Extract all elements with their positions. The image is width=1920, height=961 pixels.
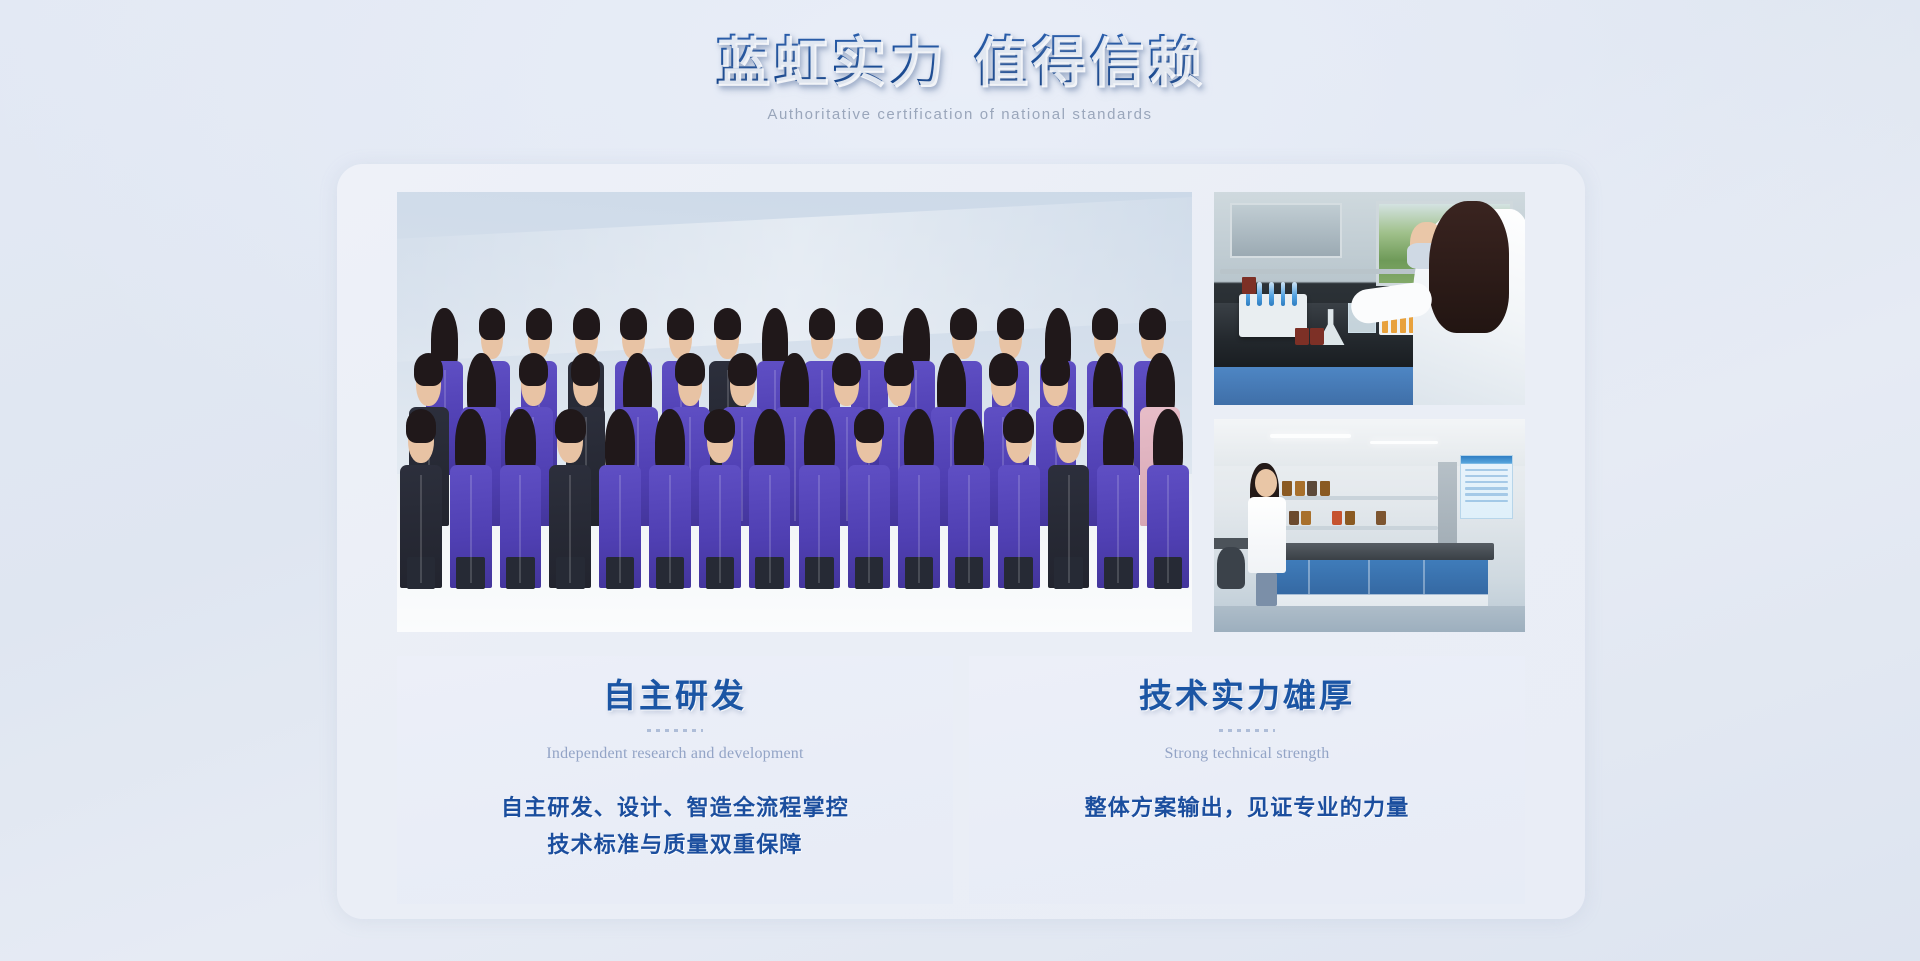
page-title: 蓝虹实力值得信赖 bbox=[715, 30, 1205, 96]
team-member bbox=[998, 417, 1040, 597]
team-member bbox=[549, 417, 591, 597]
poster-text-line bbox=[1465, 487, 1508, 489]
team-member-head bbox=[625, 360, 650, 405]
team-member-hair bbox=[832, 353, 861, 386]
team-member-hair bbox=[728, 353, 757, 386]
team-member-head bbox=[521, 360, 546, 405]
card-body-text: 自主研发、设计、智造全流程掌控 技术标准与质量双重保障 bbox=[397, 789, 953, 865]
lab2-island-benchtop bbox=[1254, 543, 1493, 560]
pipette-icon bbox=[1281, 282, 1286, 305]
team-member-head bbox=[1155, 417, 1181, 464]
team-member-head bbox=[956, 417, 982, 464]
lab1-reagent-bottle bbox=[1310, 328, 1324, 345]
team-member-hair bbox=[406, 409, 437, 443]
feature-card-independent-rd[interactable]: 自主研发 Independent research and developmen… bbox=[397, 656, 953, 904]
team-member-uniform bbox=[450, 465, 492, 588]
team-member-head bbox=[856, 417, 882, 464]
team-member-hair bbox=[704, 409, 735, 443]
team-member-hair bbox=[526, 308, 553, 340]
reagent-bottle bbox=[1320, 481, 1330, 496]
content-panel: 自主研发 Independent research and developmen… bbox=[337, 164, 1585, 919]
lab2-technician-head bbox=[1255, 469, 1277, 497]
team-member bbox=[898, 417, 940, 597]
team-member-head bbox=[408, 417, 434, 464]
team-member-head bbox=[433, 315, 456, 359]
team-member-legs bbox=[456, 557, 484, 589]
team-member-head bbox=[1105, 417, 1131, 464]
team-member-hair bbox=[1139, 308, 1166, 340]
card-title: 自主研发 bbox=[397, 678, 953, 718]
lab1-reagent-bottle bbox=[1242, 277, 1256, 294]
feature-card-technical-strength[interactable]: 技术实力雄厚 Strong technical strength 整体方案输出，… bbox=[969, 656, 1525, 904]
team-member-head bbox=[906, 417, 932, 464]
reagent-bottle bbox=[1332, 511, 1342, 526]
team-member-hair bbox=[479, 308, 506, 340]
team-member bbox=[450, 417, 492, 597]
team-member-head bbox=[469, 360, 494, 405]
page-title-part1: 蓝虹实力 bbox=[715, 32, 947, 92]
team-member-uniform bbox=[799, 465, 841, 588]
lab2-technician-legs bbox=[1256, 573, 1277, 607]
team-member-uniform bbox=[948, 465, 990, 588]
panel-inner: 自主研发 Independent research and developmen… bbox=[397, 192, 1525, 881]
card-english-subtitle: Strong technical strength bbox=[969, 745, 1525, 763]
team-member-hair bbox=[675, 353, 704, 386]
team-member bbox=[649, 417, 691, 597]
team-member-head bbox=[1148, 360, 1173, 405]
team-member-uniform bbox=[848, 465, 890, 588]
team-member-head bbox=[678, 360, 703, 405]
reagent-bottle bbox=[1301, 511, 1311, 526]
lab-photo-column bbox=[1214, 192, 1525, 632]
team-member-hair bbox=[809, 308, 836, 340]
pipette-icon bbox=[1269, 282, 1274, 305]
poster-text-line bbox=[1465, 475, 1508, 477]
team-member-legs bbox=[506, 557, 534, 589]
team-member-legs bbox=[805, 557, 833, 589]
team-member-uniform bbox=[400, 465, 442, 588]
lab1-technician-hair bbox=[1429, 201, 1510, 333]
lab2-technician-figure bbox=[1248, 466, 1285, 607]
team-member-head bbox=[939, 360, 964, 405]
poster-text-line bbox=[1465, 469, 1508, 471]
team-member-head bbox=[730, 360, 755, 405]
reagent-bottle bbox=[1307, 481, 1317, 496]
lab2-lab-stool bbox=[1217, 547, 1245, 590]
team-member-head bbox=[657, 417, 683, 464]
team-member-legs bbox=[606, 557, 634, 589]
team-member-head bbox=[1056, 417, 1082, 464]
team-member-hair bbox=[519, 353, 548, 386]
team-member-head bbox=[757, 417, 783, 464]
dotted-divider-icon bbox=[647, 729, 703, 732]
team-member bbox=[1097, 417, 1139, 597]
cabinet-seam bbox=[1368, 560, 1370, 594]
team-member-legs bbox=[755, 557, 783, 589]
cabinet-seam bbox=[1308, 560, 1310, 594]
reagent-bottle bbox=[1295, 481, 1305, 496]
lab2-safety-poster bbox=[1460, 455, 1513, 519]
team-member-head bbox=[764, 315, 787, 359]
team-member-hair bbox=[555, 409, 586, 443]
team-member-head bbox=[557, 417, 583, 464]
team-member-head bbox=[508, 417, 534, 464]
team-member-hair bbox=[950, 308, 977, 340]
team-member-head bbox=[834, 360, 859, 405]
team-member-legs bbox=[656, 557, 684, 589]
team-member-head bbox=[952, 315, 975, 359]
team-member-uniform bbox=[998, 465, 1040, 588]
team-member bbox=[948, 417, 990, 597]
team-member-uniform bbox=[500, 465, 542, 588]
card-title: 技术实力雄厚 bbox=[969, 678, 1525, 718]
poster-text-line bbox=[1465, 500, 1508, 502]
team-member-head bbox=[1006, 417, 1032, 464]
team-member-hair bbox=[714, 308, 741, 340]
page-header: 蓝虹实力值得信赖 Authoritative certification of … bbox=[0, 0, 1920, 123]
team-member-head bbox=[607, 417, 633, 464]
team-member bbox=[799, 417, 841, 597]
team-member-uniform bbox=[699, 465, 741, 588]
team-member-head bbox=[887, 360, 912, 405]
team-group-photo bbox=[397, 192, 1192, 632]
reagent-bottle bbox=[1376, 511, 1386, 526]
team-member-legs bbox=[955, 557, 983, 589]
team-member-legs bbox=[1004, 557, 1032, 589]
reagent-bottle bbox=[1289, 511, 1299, 526]
team-member-legs bbox=[1104, 557, 1132, 589]
team-member bbox=[500, 417, 542, 597]
ceiling-light-icon bbox=[1370, 441, 1438, 445]
team-member-head bbox=[905, 315, 928, 359]
dotted-divider-icon bbox=[1219, 729, 1275, 732]
reagent-bottle bbox=[1345, 511, 1355, 526]
team-member-head bbox=[716, 315, 739, 359]
team-members-group bbox=[397, 315, 1192, 597]
team-member-hair bbox=[667, 308, 694, 340]
lab2-floor bbox=[1214, 606, 1525, 632]
team-member-legs bbox=[855, 557, 883, 589]
team-member-uniform bbox=[549, 465, 591, 588]
team-member-hair bbox=[854, 409, 885, 443]
team-member-uniform bbox=[1147, 465, 1189, 588]
team-member-hair bbox=[997, 308, 1024, 340]
team-member bbox=[749, 417, 791, 597]
pipette-icon bbox=[1257, 282, 1262, 305]
team-member-head bbox=[811, 315, 834, 359]
team-member-uniform bbox=[1048, 465, 1090, 588]
team-member-uniform bbox=[1097, 465, 1139, 588]
team-member-uniform bbox=[599, 465, 641, 588]
team-member-head bbox=[806, 417, 832, 464]
team-member-uniform bbox=[749, 465, 791, 588]
team-member-hair bbox=[1003, 409, 1034, 443]
lab-photo-technician bbox=[1214, 192, 1525, 405]
team-member-head bbox=[707, 417, 733, 464]
team-member-hair bbox=[989, 353, 1018, 386]
team-member-legs bbox=[1154, 557, 1182, 589]
team-member-hair bbox=[1053, 409, 1084, 443]
team-member-head bbox=[1096, 360, 1121, 405]
team-member-legs bbox=[905, 557, 933, 589]
team-member bbox=[1048, 417, 1090, 597]
team-member-head bbox=[991, 360, 1016, 405]
team-member-head bbox=[458, 417, 484, 464]
team-member bbox=[400, 417, 442, 597]
team-member-hair bbox=[1092, 308, 1119, 340]
team-member bbox=[848, 417, 890, 597]
feature-cards: 自主研发 Independent research and developmen… bbox=[397, 656, 1525, 904]
team-member-hair bbox=[1041, 353, 1070, 386]
team-member-head bbox=[1043, 360, 1068, 405]
team-member-head bbox=[416, 360, 441, 405]
lab-photo-overview bbox=[1214, 419, 1525, 632]
team-member bbox=[699, 417, 741, 597]
team-member-uniform bbox=[649, 465, 691, 588]
team-member-hair bbox=[414, 353, 443, 386]
team-member-hair bbox=[573, 308, 600, 340]
team-member-hair bbox=[620, 308, 647, 340]
team-member-hair bbox=[856, 308, 883, 340]
card-english-subtitle: Independent research and development bbox=[397, 745, 953, 763]
lab1-back-window bbox=[1230, 203, 1342, 258]
lab1-reagent-bottle bbox=[1295, 328, 1309, 345]
ceiling-light-icon bbox=[1270, 434, 1351, 438]
team-member-legs bbox=[407, 557, 435, 589]
card-body-line-1: 自主研发、设计、智造全流程掌控 bbox=[397, 789, 953, 827]
team-member-head bbox=[858, 315, 881, 359]
team-member-hair bbox=[884, 353, 913, 386]
card-body-line-1: 整体方案输出，见证专业的力量 bbox=[969, 789, 1525, 827]
lab-coat-icon bbox=[1248, 497, 1285, 573]
card-body-text: 整体方案输出，见证专业的力量 bbox=[969, 789, 1525, 827]
team-member-uniform bbox=[898, 465, 940, 588]
page-subtitle: Authoritative certification of national … bbox=[0, 106, 1920, 123]
team-member-legs bbox=[556, 557, 584, 589]
team-member-legs bbox=[706, 557, 734, 589]
team-member-head bbox=[622, 315, 645, 359]
team-member-head bbox=[782, 360, 807, 405]
media-gallery bbox=[397, 192, 1525, 632]
card-body-line-2: 技术标准与质量双重保障 bbox=[397, 826, 953, 864]
poster-text-line bbox=[1465, 493, 1508, 495]
cabinet-seam bbox=[1423, 560, 1425, 594]
team-member bbox=[1147, 417, 1189, 597]
team-member-hair bbox=[571, 353, 600, 386]
team-member-legs bbox=[1054, 557, 1082, 589]
pipette-icon bbox=[1292, 282, 1297, 305]
poster-text-line bbox=[1465, 481, 1508, 483]
page-title-part2: 值得信赖 bbox=[973, 32, 1205, 92]
team-member-head bbox=[573, 360, 598, 405]
team-member bbox=[599, 417, 641, 597]
